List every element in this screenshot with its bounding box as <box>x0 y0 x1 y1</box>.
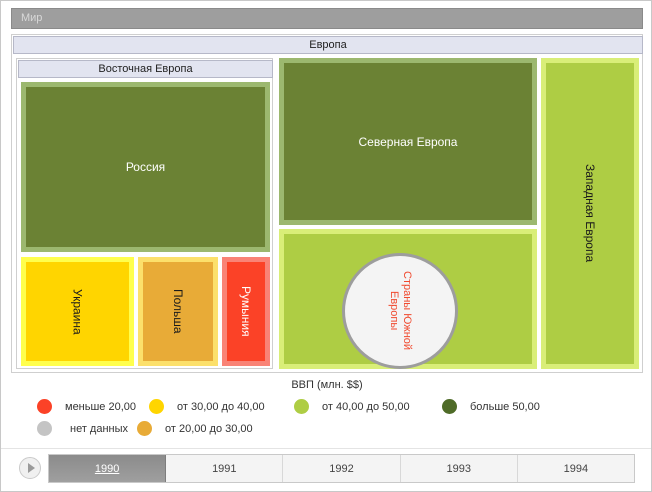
root-node-label: Мир <box>21 12 42 24</box>
eastern-europe-node-header[interactable]: Восточная Европа <box>18 60 273 78</box>
treemap-tile-poland[interactable]: Польша <box>138 257 218 366</box>
europe-node-label: Европа <box>309 39 347 51</box>
eastern-europe-panel: Восточная Европа Россия Украина Польша Р… <box>16 58 273 369</box>
legend-item-label: меньше 20,00 <box>65 401 136 413</box>
legend-title: ВВП (млн. $$) <box>1 379 652 391</box>
legend-item-label: нет данных <box>70 423 128 435</box>
timeline-tick-strip[interactable]: 1990 1991 1992 1993 1994 <box>48 454 635 483</box>
legend-item-label: от 40,00 до 50,00 <box>322 401 410 413</box>
southern-europe-circle-marker[interactable]: Страны Южной Европы <box>342 253 458 369</box>
treemap-tile-ukraine[interactable]: Украина <box>21 257 134 366</box>
treemap-tile-poland-label: Польша <box>143 262 213 361</box>
legend-swatch-icon <box>442 399 457 414</box>
timeline-tick-1992[interactable]: 1992 <box>283 455 400 482</box>
treemap-app: Мир Европа Восточная Европа Россия Украи… <box>0 0 652 492</box>
timeline-tick-1993[interactable]: 1993 <box>401 455 518 482</box>
treemap-tile-ukraine-label: Украина <box>26 262 129 361</box>
eastern-europe-node-label: Восточная Европа <box>98 63 192 75</box>
legend-item-5[interactable]: от 20,00 до 30,00 <box>137 420 337 437</box>
europe-node-header[interactable]: Европа <box>13 36 643 54</box>
legend-item-label: от 30,00 до 40,00 <box>177 401 265 413</box>
treemap-tile-western-europe-label: Западная Европа <box>546 63 634 364</box>
treemap-tile-northern-europe-label: Северная Европа <box>284 63 532 220</box>
legend-swatch-icon <box>37 399 52 414</box>
treemap-tile-russia[interactable]: Россия <box>21 82 270 252</box>
legend-item-label: от 20,00 до 30,00 <box>165 423 253 435</box>
legend-item-4[interactable]: нет данных <box>37 420 137 437</box>
legend-swatch-icon <box>294 399 309 414</box>
europe-panel: Европа Восточная Европа Россия Украина П… <box>11 34 643 373</box>
legend: ВВП (млн. $$) меньше 20,00 от 30,00 до 4… <box>1 379 652 437</box>
legend-swatch-icon <box>137 421 152 436</box>
timeline-tick-1994[interactable]: 1994 <box>518 455 634 482</box>
play-icon[interactable] <box>19 457 41 479</box>
legend-swatch-icon <box>37 421 52 436</box>
legend-items: меньше 20,00 от 30,00 до 40,00 от 40,00 … <box>1 398 637 437</box>
treemap-tile-romania[interactable]: Румыния <box>222 257 270 366</box>
legend-item-label: больше 50,00 <box>470 401 540 413</box>
timeline-tick-1991[interactable]: 1991 <box>166 455 283 482</box>
legend-swatch-icon <box>149 399 164 414</box>
timeline-tick-1990[interactable]: 1990 <box>49 455 166 482</box>
treemap-tile-russia-label: Россия <box>26 87 265 247</box>
legend-item-2[interactable]: от 40,00 до 50,00 <box>294 398 442 415</box>
southern-europe-circle-label: Страны Южной Европы <box>387 268 413 354</box>
timeline: 1990 1991 1992 1993 1994 <box>1 448 652 492</box>
legend-item-3[interactable]: больше 50,00 <box>442 398 562 415</box>
treemap-tile-romania-label: Румыния <box>227 262 265 361</box>
play-triangle-icon <box>28 463 35 473</box>
treemap-tile-northern-europe[interactable]: Северная Европа <box>279 58 537 225</box>
legend-item-0[interactable]: меньше 20,00 <box>37 398 149 415</box>
legend-item-1[interactable]: от 30,00 до 40,00 <box>149 398 294 415</box>
treemap-tile-western-europe[interactable]: Западная Европа <box>541 58 639 369</box>
root-node-header[interactable]: Мир <box>11 8 643 29</box>
